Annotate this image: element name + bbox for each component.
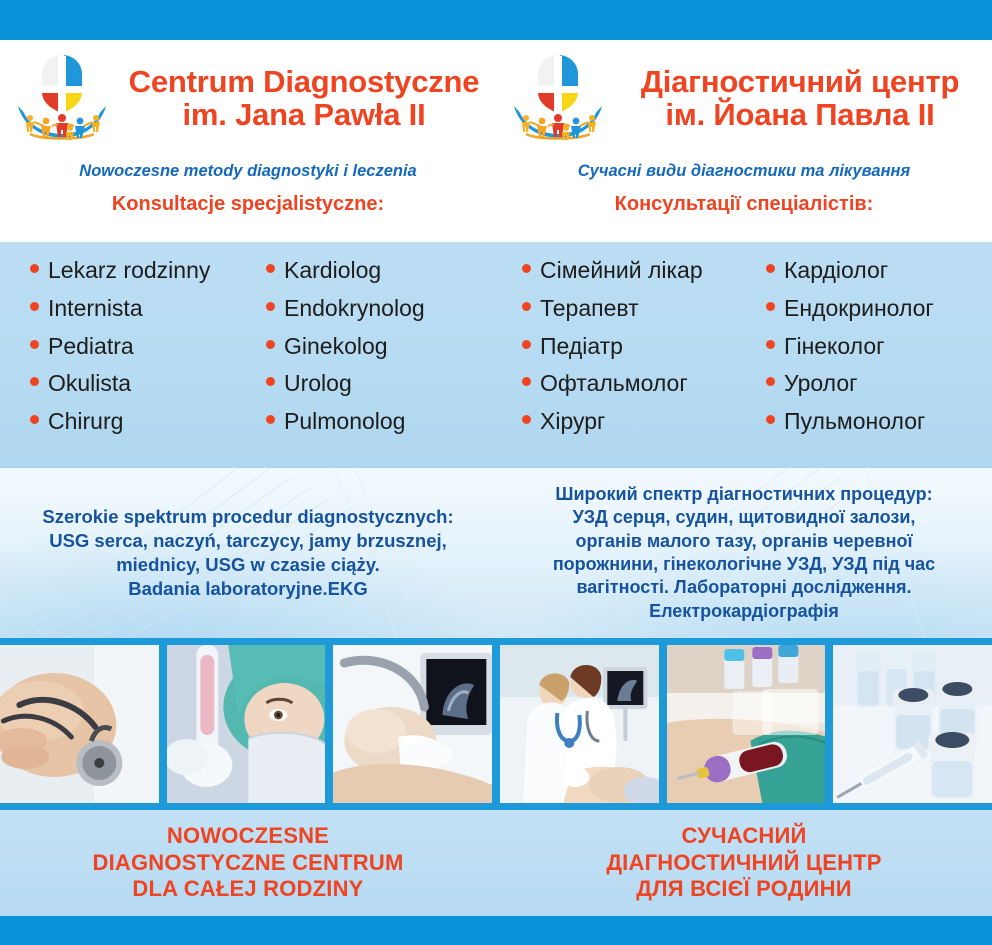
bullet-dot-icon — [766, 302, 775, 311]
brand-line1-left: Centrum Diagnostyczne — [120, 65, 488, 98]
bullet-dot-icon — [266, 302, 275, 311]
description-line: Широкий спектр діагностичних процедур: — [553, 483, 935, 506]
specialists-panel: Lekarz rodzinny Internista Pediatra Okul… — [0, 242, 992, 468]
bullet-dot-icon — [266, 340, 275, 349]
bullet-dot-icon — [522, 302, 531, 311]
photo-strip — [0, 638, 992, 810]
specialist-label: Хірург — [540, 407, 605, 436]
description-text-right: Широкий спектр діагностичних процедур: У… — [531, 483, 957, 623]
list-item: Терапевт — [522, 294, 748, 323]
header-right-ukrainian: Діагностичний центр ім. Йоана Павла II С… — [496, 40, 992, 242]
description-text-left: Szerokie spektrum procedur diagnostyczny… — [20, 505, 475, 601]
bullet-dot-icon — [266, 415, 275, 424]
bullet-dot-icon — [30, 415, 39, 424]
footer-left-polish: NOWOCZESNE DIAGNOSTYCZNE CENTRUM DLA CAŁ… — [0, 810, 496, 916]
specialists-right-column-1: Сімейний лікар Терапевт Педіатр Офтальмо… — [496, 256, 748, 468]
subhead-left: Konsultacje specjalistyczne: — [0, 193, 496, 216]
list-item: Кардіолог — [766, 256, 992, 285]
specialist-label: Гінеколог — [784, 332, 885, 361]
bullet-dot-icon — [30, 340, 39, 349]
footer-line: NOWOCZESNE — [93, 823, 404, 850]
specialists-left-column-1: Lekarz rodzinny Internista Pediatra Okul… — [0, 256, 260, 468]
description-line: порожнини, гінекологічне УЗД, УЗД під ча… — [553, 553, 935, 576]
description-line: органів малого тазу, органів черевної — [553, 530, 935, 553]
specialist-label: Педіатр — [540, 332, 623, 361]
bullet-dot-icon — [266, 264, 275, 273]
specialist-label: Терапевт — [540, 294, 639, 323]
list-item: Пульмонолог — [766, 407, 992, 436]
description-line: Szerokie spektrum procedur diagnostyczny… — [42, 505, 453, 529]
specialists-left-column-2: Kardiolog Endokrynolog Ginekolog Urolog … — [260, 256, 496, 468]
bullet-dot-icon — [30, 264, 39, 273]
subhead-right: Консультації спеціалістів: — [496, 193, 992, 216]
description-line: Badania laboratoryjne.EKG — [42, 577, 453, 601]
footer-line: ДЛЯ ВСІЄЇ РОДИНИ — [606, 876, 881, 903]
list-item: Ендокринолог — [766, 294, 992, 323]
bullet-dot-icon — [266, 377, 275, 386]
specialists-right-column-2: Кардіолог Ендокринолог Гінеколог Уролог … — [748, 256, 992, 468]
list-item: Urolog — [266, 369, 496, 398]
specialist-label: Kardiolog — [284, 256, 381, 285]
john-paul-ii-mitre-family-logo — [8, 48, 116, 148]
list-item: Ginekolog — [266, 332, 496, 361]
specialist-label: Urolog — [284, 369, 352, 398]
tagline-right: Сучасні види діагностики та лікування — [496, 162, 992, 181]
flyer-page: Centrum Diagnostyczne im. Jana Pawła II … — [0, 0, 992, 945]
specialist-label: Internista — [48, 294, 143, 323]
header-left-polish: Centrum Diagnostyczne im. Jana Pawła II … — [0, 40, 496, 242]
list-item: Педіатр — [522, 332, 748, 361]
specialist-label: Pediatra — [48, 332, 134, 361]
photo-ultrasound-probe-scan — [333, 645, 492, 803]
description-right-ukrainian: Широкий спектр діагностичних процедур: У… — [496, 468, 992, 638]
description-panel: Szerokie spektrum procedur diagnostyczny… — [0, 468, 992, 638]
description-line: Електрокардіографія — [553, 600, 935, 623]
specialist-label: Ginekolog — [284, 332, 388, 361]
specialist-label: Lekarz rodzinny — [48, 256, 210, 285]
bullet-dot-icon — [30, 302, 39, 311]
bullet-dot-icon — [766, 264, 775, 273]
list-item: Kardiolog — [266, 256, 496, 285]
specialist-label: Пульмонолог — [784, 407, 925, 436]
bullet-dot-icon — [522, 340, 531, 349]
john-paul-ii-mitre-family-logo — [504, 48, 612, 148]
specialists-right-ukrainian: Сімейний лікар Терапевт Педіатр Офтальмо… — [496, 242, 992, 468]
brand-line1-right: Діагностичний центр — [616, 65, 984, 98]
photo-lab-technician-test-tube — [167, 645, 326, 803]
list-item: Pediatra — [30, 332, 260, 361]
footer-right-ukrainian: СУЧАСНИЙ ДІАГНОСТИЧНИЙ ЦЕНТР ДЛЯ ВСІЄЇ Р… — [496, 810, 992, 916]
bottom-blue-bar — [0, 916, 992, 945]
brand-row-left: Centrum Diagnostyczne im. Jana Pawła II — [0, 40, 496, 148]
specialist-label: Endokrynolog — [284, 294, 425, 323]
specialist-label: Уролог — [784, 369, 858, 398]
list-item: Уролог — [766, 369, 992, 398]
bullet-dot-icon — [766, 415, 775, 424]
footer-text-left: NOWOCZESNE DIAGNOSTYCZNE CENTRUM DLA CAŁ… — [93, 823, 404, 903]
specialist-label: Сімейний лікар — [540, 256, 703, 285]
tagline-left: Nowoczesne metody diagnostyki i leczenia — [0, 162, 496, 181]
specialist-label: Okulista — [48, 369, 131, 398]
brand-line2-left: im. Jana Pawła II — [120, 98, 488, 131]
bullet-dot-icon — [522, 264, 531, 273]
photo-blood-draw-vacutainer — [667, 645, 826, 803]
footer-text-right: СУЧАСНИЙ ДІАГНОСТИЧНИЙ ЦЕНТР ДЛЯ ВСІЄЇ Р… — [606, 823, 881, 903]
description-line: USG serca, naczyń, tarczycy, jamy brzusz… — [42, 529, 453, 553]
footer-line: СУЧАСНИЙ — [606, 823, 881, 850]
bullet-dot-icon — [30, 377, 39, 386]
description-line: miednicy, USG w czasie ciąży. — [42, 553, 453, 577]
photo-vials-and-syringe — [833, 645, 992, 803]
top-blue-bar — [0, 0, 992, 40]
description-left-polish: Szerokie spektrum procedur diagnostyczny… — [0, 468, 496, 638]
description-line: УЗД серця, судин, щитовидної залози, — [553, 506, 935, 529]
bullet-dot-icon — [522, 415, 531, 424]
list-item: Офтальмолог — [522, 369, 748, 398]
description-line: вагітності. Лабораторні дослідження. — [553, 576, 935, 599]
photo-two-doctors-ultrasound-exam — [500, 645, 659, 803]
list-item: Сімейний лікар — [522, 256, 748, 285]
header: Centrum Diagnostyczne im. Jana Pawła II … — [0, 40, 992, 242]
list-item: Endokrynolog — [266, 294, 496, 323]
specialist-label: Ендокринолог — [784, 294, 934, 323]
brand-line2-right: ім. Йоана Павла II — [616, 98, 984, 131]
bullet-dot-icon — [766, 340, 775, 349]
footer-line: DLA CAŁEJ RODZINY — [93, 876, 404, 903]
specialist-label: Pulmonolog — [284, 407, 405, 436]
specialists-left-polish: Lekarz rodzinny Internista Pediatra Okul… — [0, 242, 496, 468]
list-item: Lekarz rodzinny — [30, 256, 260, 285]
list-item: Chirurg — [30, 407, 260, 436]
specialist-label: Кардіолог — [784, 256, 888, 285]
list-item: Okulista — [30, 369, 260, 398]
brand-row-right: Діагностичний центр ім. Йоана Павла II — [496, 40, 992, 148]
footer-slogans: NOWOCZESNE DIAGNOSTYCZNE CENTRUM DLA CAŁ… — [0, 810, 992, 916]
footer-line: DIAGNOSTYCZNE CENTRUM — [93, 850, 404, 877]
list-item: Гінеколог — [766, 332, 992, 361]
specialist-label: Офтальмолог — [540, 369, 688, 398]
list-item: Internista — [30, 294, 260, 323]
brand-names-left: Centrum Diagnostyczne im. Jana Pawła II — [120, 65, 488, 132]
brand-names-right: Діагностичний центр ім. Йоана Павла II — [616, 65, 984, 132]
specialist-label: Chirurg — [48, 407, 123, 436]
list-item: Хірург — [522, 407, 748, 436]
footer-line: ДІАГНОСТИЧНИЙ ЦЕНТР — [606, 850, 881, 877]
list-item: Pulmonolog — [266, 407, 496, 436]
photo-hands-with-stethoscope — [0, 645, 159, 803]
bullet-dot-icon — [522, 377, 531, 386]
bullet-dot-icon — [766, 377, 775, 386]
